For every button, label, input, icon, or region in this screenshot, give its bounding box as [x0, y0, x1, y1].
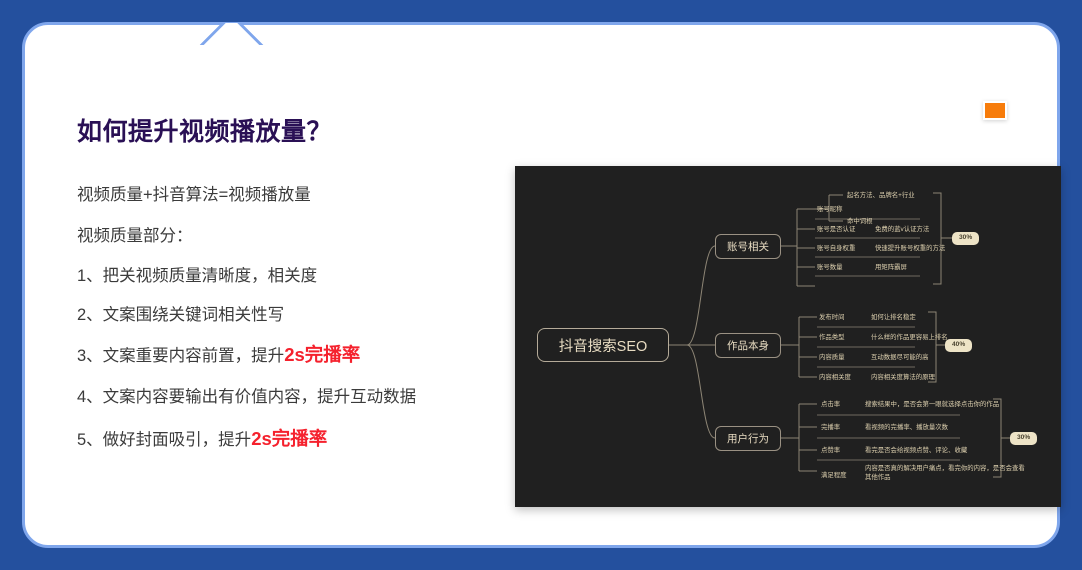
- white-content-card: 如何提升视频播放量？ 视频质量+抖音算法=视频播放量 视频质量部分： 1、把关视…: [22, 22, 1060, 548]
- mindmap-branch-node-1: 账号相关: [715, 234, 781, 259]
- mm-b2-label-1: 发布时间: [819, 313, 845, 322]
- mm-b2-label-4: 内容相关度: [819, 373, 851, 382]
- mm-b3-desc-2: 看视频的完播率、播放量次数: [865, 423, 948, 432]
- mindmap-branch-node-2: 作品本身: [715, 333, 781, 358]
- body-line-5-highlight: 2s完播率: [284, 344, 360, 365]
- orange-square-marker: [983, 101, 1007, 120]
- mm-b1-desc-5: 用矩阵霸屏: [875, 263, 907, 272]
- body-line-4: 2、文案围绕关键词相关性写: [77, 303, 497, 329]
- mm-b3-desc-3: 看完是否会给视频点赞、评论、收藏: [865, 446, 967, 455]
- mm-b3-label-3: 点赞率: [821, 446, 840, 455]
- mindmap-branch-node-3: 用户行为: [715, 426, 781, 451]
- mm-b2-label-3: 内容质量: [819, 353, 845, 362]
- mm-b2-desc-2: 什么样的作品更容易上排名: [871, 333, 948, 342]
- mm-b3-desc-4: 内容是否真的解决用户痛点，看完你的内容，是否会查看其他作品: [865, 464, 1025, 483]
- mm-b3-label-4: 满足程度: [821, 471, 847, 480]
- mm-b1-desc-1: 起名方法、品牌名+行业: [847, 191, 915, 200]
- mm-b3-label-2: 完播率: [821, 423, 840, 432]
- body-line-1: 视频质量+抖音算法=视频播放量: [77, 183, 497, 209]
- mm-b1-label-3: 账号是否认证: [817, 225, 855, 234]
- mm-b1-desc-4: 快速提升账号权重的方法: [875, 244, 945, 253]
- mm-b1-label-4: 账号自身权重: [817, 244, 855, 253]
- body-line-6: 4、文案内容要输出有价值内容，提升互动数据: [77, 385, 497, 411]
- mm-b1-label-6: [817, 282, 819, 291]
- mm-b2-desc-4: 内容相关度算法的原理: [871, 373, 935, 382]
- text-column: 如何提升视频播放量？ 视频质量+抖音算法=视频播放量 视频质量部分： 1、把关视…: [77, 117, 497, 469]
- body-line-3: 1、把关视频质量清晰度，相关度: [77, 264, 497, 290]
- mm-b1-label-1: 账号昵称: [817, 205, 843, 214]
- mm-b3-label-1: 点击率: [821, 400, 840, 409]
- body-line-7: 5、做好封面吸引，提升2s完播率: [77, 425, 497, 454]
- mm-badge-2: 40%: [945, 339, 972, 352]
- mm-b1-desc-3: 免费的蓝v认证方法: [875, 225, 929, 234]
- body-line-7-text: 5、做好封面吸引，提升: [77, 431, 251, 449]
- mm-b1-label-5: 账号数量: [817, 263, 843, 272]
- body-line-5-text: 3、文案重要内容前置，提升: [77, 347, 284, 365]
- body-line-7-highlight: 2s完播率: [251, 428, 327, 449]
- mindmap-image: 抖音搜索SEO 账号相关 账号昵称 起名方法、品牌名+行业 命中词根 账号是否认…: [515, 166, 1061, 507]
- mm-badge-1: 30%: [952, 232, 979, 245]
- body-line-5: 3、文案重要内容前置，提升2s完播率: [77, 341, 497, 370]
- mm-b2-desc-3: 互动数据尽可能的高: [871, 353, 929, 362]
- mm-b3-desc-1: 搜索结果中，是否会第一眼就选择点击你的作品: [865, 400, 999, 409]
- mm-b2-desc-1: 如何让排名稳定: [871, 313, 916, 322]
- mm-badge-3: 30%: [1010, 432, 1037, 445]
- slide-root: 如何提升视频播放量？ 视频质量+抖音算法=视频播放量 视频质量部分： 1、把关视…: [0, 0, 1082, 570]
- notch-mask: [185, 45, 287, 59]
- mindmap-root-node: 抖音搜索SEO: [537, 328, 669, 362]
- body-line-2: 视频质量部分：: [77, 224, 497, 250]
- mm-b2-label-2: 作品类型: [819, 333, 845, 342]
- page-title: 如何提升视频播放量？: [77, 117, 497, 147]
